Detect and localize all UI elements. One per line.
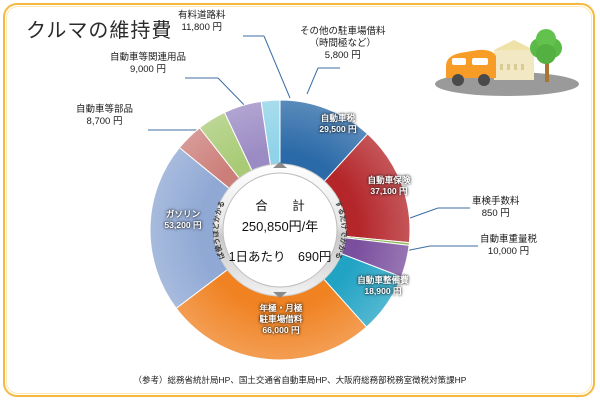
callout-label: 有料道路料 (178, 10, 226, 21)
callout-label: その他の駐車場借料 (300, 26, 386, 37)
page-title: クルマの維持費 (26, 14, 172, 43)
callout-value: 10,000 円 (480, 246, 537, 258)
footnote: （参考）総務省統計局HP、国土交通省自動車局HP、大阪府総務部税務室徴税対策課H… (0, 374, 600, 386)
house-icon (494, 40, 534, 80)
inner-disc (223, 173, 337, 287)
callout-value: 850 円 (472, 208, 520, 220)
slide-canvas: クルマの維持費 有料道路料 11,800 円 自動車等関連用品 9,000 円 … (0, 0, 600, 402)
callout-label: 車検手数料 (472, 196, 520, 207)
callout-value: 8,700 円 (76, 116, 133, 128)
illustration (432, 22, 582, 102)
doughnut-svg: 使えば使うほどかかる費用 保有するだけでかかる費用 (130, 85, 430, 375)
callout-value: 11,800 円 (178, 22, 226, 34)
callout-label-2: （時間極など） (300, 38, 386, 50)
callout-value: 9,000 円 (110, 64, 186, 76)
doughnut-chart: 使えば使うほどかかる費用 保有するだけでかかる費用 自動車税 29,500 円 … (130, 85, 430, 375)
callout-label: 自動車等関連用品 (110, 52, 186, 63)
callout-car-parts: 自動車等部品 8,700 円 (76, 104, 133, 128)
callout-inspection-fee: 車検手数料 850 円 (472, 196, 520, 220)
callout-toll-road: 有料道路料 11,800 円 (178, 10, 226, 34)
callout-value: 5,800 円 (300, 50, 386, 62)
callout-weight-tax: 自動車重量税 10,000 円 (480, 234, 537, 258)
callout-car-accessories: 自動車等関連用品 9,000 円 (110, 52, 186, 76)
callout-other-parking: その他の駐車場借料 （時間極など） 5,800 円 (300, 26, 386, 62)
callout-label: 自動車等部品 (76, 104, 133, 115)
callout-label: 自動車重量税 (480, 234, 537, 245)
